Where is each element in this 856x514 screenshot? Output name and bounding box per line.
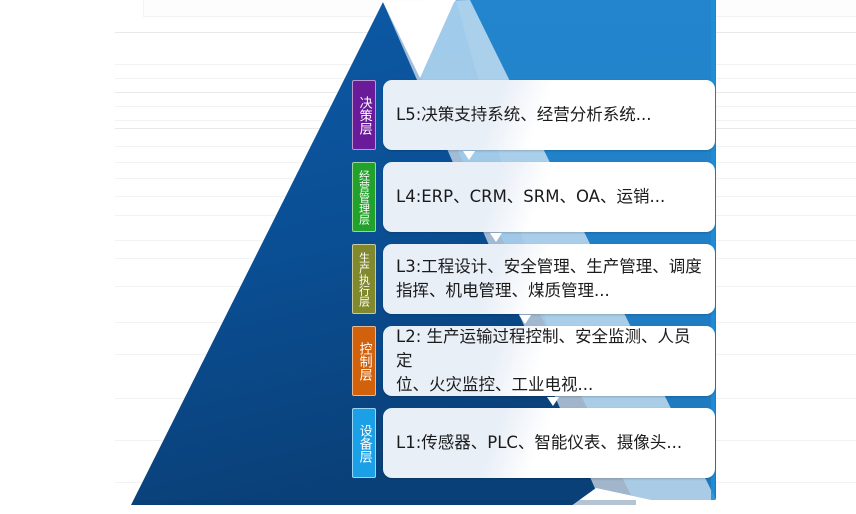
layer-tag-label-l5: 决策层 — [357, 96, 370, 135]
layer-tag-l2: 控制层 — [352, 326, 376, 396]
flow-marker-down-4 — [547, 397, 559, 406]
layer-card-line-1: L2: 生产运输过程控制、安全监测、人员定 — [396, 327, 691, 370]
layer-tag-l1: 设备层 — [352, 408, 376, 478]
layer-tag-l5: 决策层 — [352, 80, 376, 150]
layer-card-text-l1: L1:传感器、PLC、智能仪表、摄像头... — [396, 431, 682, 455]
layer-row-l1[interactable]: 设备层 L1:传感器、PLC、智能仪表、摄像头... — [352, 408, 715, 478]
layer-card-l4[interactable]: L4:ERP、CRM、SRM、OA、运销... — [383, 162, 715, 232]
layer-card-line-2: 指挥、机电管理、煤质管理... — [396, 281, 610, 300]
layer-card-l5[interactable]: L5:决策支持系统、经营分析系统... — [383, 80, 715, 150]
layer-row-l4[interactable]: 经营管理层 L4:ERP、CRM、SRM、OA、运销... — [352, 162, 715, 232]
layer-row-l5[interactable]: 决策层 L5:决策支持系统、经营分析系统... — [352, 80, 715, 150]
layer-card-text-l2: L2: 生产运输过程控制、安全监测、人员定 位、火灾监控、工业电视... — [396, 325, 702, 397]
layer-card-text-l3: L3:工程设计、安全管理、生产管理、调度 指挥、机电管理、煤质管理... — [396, 255, 702, 303]
layer-card-line-2: 位、火灾监控、工业电视... — [396, 375, 593, 394]
layer-card-line-1: L3:工程设计、安全管理、生产管理、调度 — [396, 257, 702, 276]
layer-tag-label-l2: 控制层 — [357, 342, 370, 381]
layer-tag-l3: 生产执行层 — [352, 244, 376, 314]
layer-card-l1[interactable]: L1:传感器、PLC、智能仪表、摄像头... — [383, 408, 715, 478]
flow-marker-down-1 — [463, 151, 475, 160]
layer-row-l3[interactable]: 生产执行层 L3:工程设计、安全管理、生产管理、调度 指挥、机电管理、煤质管理.… — [352, 244, 715, 314]
diagram-canvas: 决策层 L5:决策支持系统、经营分析系统... 经营管理层 L4:ERP、CRM… — [0, 0, 856, 514]
layer-tag-l4: 经营管理层 — [352, 162, 376, 232]
layer-card-l2[interactable]: L2: 生产运输过程控制、安全监测、人员定 位、火灾监控、工业电视... — [383, 326, 715, 396]
layer-tag-label-l4: 经营管理层 — [359, 170, 370, 225]
layer-card-text-l5: L5:决策支持系统、经营分析系统... — [396, 103, 651, 127]
layer-card-l3[interactable]: L3:工程设计、安全管理、生产管理、调度 指挥、机电管理、煤质管理... — [383, 244, 715, 314]
flow-marker-down-3 — [519, 315, 531, 324]
pyramid-base-shadow — [131, 500, 636, 505]
layer-tag-label-l3: 生产执行层 — [359, 252, 370, 307]
layer-row-l2[interactable]: 控制层 L2: 生产运输过程控制、安全监测、人员定 位、火灾监控、工业电视... — [352, 326, 715, 396]
layer-card-text-l4: L4:ERP、CRM、SRM、OA、运销... — [396, 185, 665, 209]
layer-tag-label-l1: 设备层 — [357, 424, 370, 463]
flow-marker-down-2 — [490, 233, 502, 242]
